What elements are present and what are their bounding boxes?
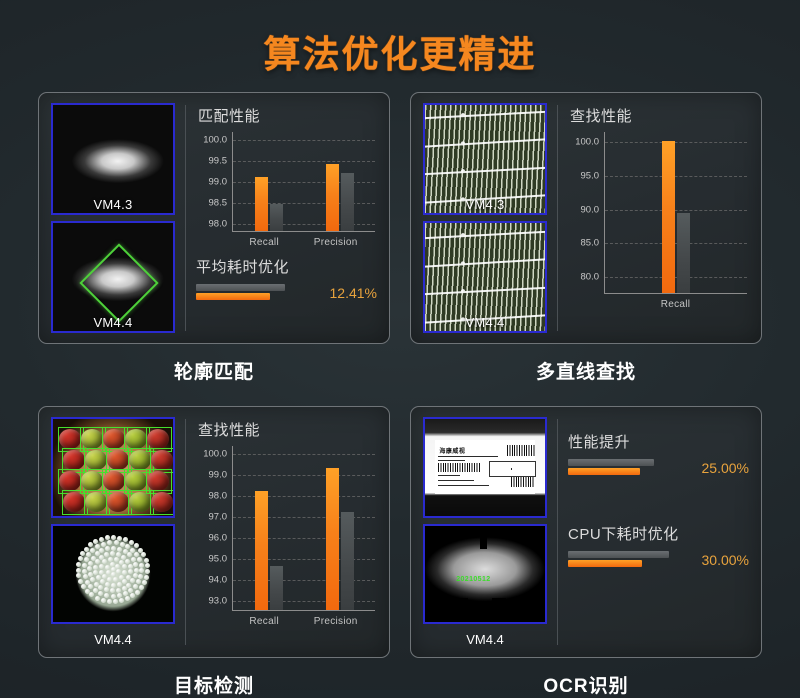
- metal-part-image: 20210512: [425, 526, 545, 623]
- metric-bar-value: [568, 560, 642, 567]
- bead: [104, 587, 109, 592]
- bead: [98, 591, 103, 596]
- bead: [78, 556, 83, 561]
- metric-title: 平均耗时优化: [196, 256, 377, 277]
- panel-caption: 目标检测: [38, 671, 390, 698]
- chart-y-tick-label: 95.0: [209, 553, 228, 564]
- chart-y-axis: 98.098.599.099.5100.0: [196, 132, 230, 250]
- bead: [111, 535, 116, 540]
- chart-title: 查找性能: [570, 105, 749, 126]
- bead: [139, 568, 144, 573]
- chart-y-tick-label: 98.0: [209, 491, 228, 502]
- chart-bar: [341, 512, 354, 610]
- chart-bar: [255, 491, 268, 610]
- thumbnail-vm43[interactable]: VM4.3: [51, 103, 175, 215]
- bead: [117, 582, 122, 587]
- bead: [76, 562, 81, 567]
- panel-caption: 多直线查找: [410, 357, 762, 384]
- bead: [119, 598, 124, 603]
- chart-plot-area: [232, 132, 375, 232]
- chart-bar-group: [255, 132, 283, 231]
- chart-y-tick-label: 90.0: [581, 204, 600, 215]
- bead: [110, 588, 115, 593]
- bead: [113, 599, 118, 604]
- bead: [130, 578, 135, 583]
- panel-ocr-recognition: 海康威视: [410, 406, 762, 698]
- apple-detection-image: [53, 419, 173, 516]
- bead: [134, 568, 139, 573]
- chart-bars: [233, 132, 375, 231]
- bead: [138, 574, 143, 579]
- chart-bar: [270, 204, 283, 231]
- chart-bar: [326, 164, 339, 231]
- bead: [114, 557, 119, 562]
- bead: [145, 569, 150, 574]
- bead: [99, 564, 104, 569]
- bead: [99, 570, 104, 575]
- metric-bar-baseline: [196, 284, 285, 291]
- chart-title: 查找性能: [198, 419, 377, 440]
- chart-y-axis: 93.094.095.096.097.098.099.0100.0: [196, 446, 230, 629]
- bead: [84, 547, 89, 552]
- bead: [120, 542, 125, 547]
- bead: [108, 557, 113, 562]
- bead: [76, 573, 81, 578]
- bar-chart-detection-performance: 93.094.095.096.097.098.099.0100.0RecallP…: [196, 446, 377, 629]
- metric-title: 性能提升: [568, 431, 749, 452]
- panel-grid: VM4.3 VM4.4 匹配性能 98.098.599.099.5100.0Re…: [0, 92, 800, 698]
- chart-bar: [341, 173, 354, 231]
- bead: [135, 590, 140, 595]
- bead: [128, 569, 133, 574]
- bead: [107, 540, 112, 545]
- bead: [84, 557, 89, 562]
- metric-bars: [568, 459, 692, 477]
- metric-bars: [196, 284, 320, 302]
- thumbnail-label: VM4.3: [425, 197, 545, 212]
- chart-x-tick-label: Recall: [661, 299, 691, 310]
- bead: [83, 574, 88, 579]
- bead: [88, 542, 93, 547]
- chart-y-tick-label: 100.0: [203, 135, 227, 146]
- chart-y-axis: 80.085.090.095.0100.0: [568, 132, 602, 312]
- chart-x-axis: RecallPrecision: [232, 234, 375, 250]
- bead: [137, 557, 142, 562]
- chart-y-tick-label: 98.0: [209, 218, 228, 229]
- bead: [133, 562, 138, 567]
- thumbnail-balls[interactable]: [51, 524, 175, 625]
- panel-row-bottom: VM4.4 查找性能 93.094.095.096.097.098.099.01…: [0, 406, 800, 698]
- chart-y-tick-label: 96.0: [209, 532, 228, 543]
- thumbnail-apples[interactable]: [51, 417, 175, 518]
- chart-bars: [605, 132, 747, 293]
- bead: [93, 565, 98, 570]
- panel-row-top: VM4.3 VM4.4 匹配性能 98.098.599.099.5100.0Re…: [0, 92, 800, 384]
- panel-body: VM4.3 VM4.4 查找性能 80.08: [410, 92, 762, 344]
- metric-bar-value: [196, 293, 270, 300]
- detection-box: [150, 490, 175, 515]
- bar-chart-finding-performance: 80.085.090.095.0100.0Recall: [568, 132, 749, 312]
- chart-y-tick-label: 98.5: [209, 197, 228, 208]
- chart-x-tick-label: Precision: [314, 237, 358, 248]
- bead: [76, 568, 81, 573]
- chart-plot-area: [232, 446, 375, 611]
- bead: [114, 540, 119, 545]
- chart-bar-group: [326, 446, 354, 610]
- shipping-label-image: 海康威视: [425, 419, 545, 516]
- bead: [87, 566, 92, 571]
- chart-y-tick-label: 100.0: [203, 449, 227, 460]
- panel-divider: [185, 105, 186, 331]
- bead: [144, 558, 149, 563]
- chart-y-tick-label: 97.0: [209, 512, 228, 523]
- thumbnail-column: VM4.3 VM4.4: [51, 103, 175, 333]
- chart-y-tick-label: 99.5: [209, 156, 228, 167]
- bead: [116, 588, 121, 593]
- thumbnail-label: VM4.4: [423, 632, 547, 647]
- bead: [94, 582, 99, 587]
- thumbnail-label: VM4.4: [425, 315, 545, 330]
- ocr-result-text: 20210512: [456, 576, 490, 583]
- bead: [141, 552, 146, 557]
- bead: [80, 551, 85, 556]
- metric-bar-baseline: [568, 459, 654, 466]
- bead: [116, 552, 121, 557]
- bead: [117, 536, 122, 541]
- metric-bar-baseline: [568, 551, 669, 558]
- panel-body: VM4.4 查找性能 93.094.095.096.097.098.099.01…: [38, 406, 390, 658]
- bead: [117, 547, 122, 552]
- bead: [139, 585, 144, 590]
- chart-title: 匹配性能: [198, 105, 377, 126]
- chart-y-tick-label: 100.0: [575, 137, 599, 148]
- chart-y-tick-label: 80.0: [581, 272, 600, 283]
- chart-bar: [255, 177, 268, 231]
- chart-bars: [233, 446, 375, 610]
- panel-body: 海康威视: [410, 406, 762, 658]
- bead: [123, 537, 128, 542]
- chart-bar-group: [326, 132, 354, 231]
- metric-bars: [568, 551, 692, 569]
- bead: [139, 563, 144, 568]
- thumbnail-vm43[interactable]: VM4.3: [423, 103, 547, 215]
- chart-bar: [270, 566, 283, 610]
- thumbnail-vm44[interactable]: VM4.4: [423, 221, 547, 333]
- chart-y-tick-label: 94.0: [209, 574, 228, 585]
- chart-plot-area: [604, 132, 747, 294]
- chart-bar: [326, 468, 339, 610]
- bead: [111, 546, 116, 551]
- metric-value: 12.41%: [330, 285, 377, 301]
- chart-y-tick-label: 99.0: [209, 470, 228, 481]
- bead: [116, 569, 121, 574]
- bar-chart-matching-performance: 98.098.599.099.5100.0RecallPrecision: [196, 132, 377, 250]
- bead: [100, 579, 105, 584]
- thumbnail-column: VM4.3 VM4.4: [423, 103, 547, 333]
- bead: [101, 542, 106, 547]
- panel-data-column: 查找性能 80.085.090.095.0100.0Recall: [568, 103, 749, 333]
- panel-contour-matching: VM4.3 VM4.4 匹配性能 98.098.599.099.5100.0Re…: [38, 92, 390, 384]
- bead: [102, 559, 107, 564]
- bead: [95, 596, 100, 601]
- chart-y-tick-label: 93.0: [209, 595, 228, 606]
- bead: [122, 586, 127, 591]
- chart-bar-group: [662, 132, 690, 293]
- panel-divider: [557, 105, 558, 331]
- bead: [96, 575, 101, 580]
- bead: [91, 556, 96, 561]
- metric-cpu-time-optimization: CPU下耗时优化 30.00%: [568, 523, 749, 569]
- bead: [105, 582, 110, 587]
- panel-caption: OCR识别: [410, 671, 762, 698]
- thumbnail-label: VM4.4: [51, 632, 175, 647]
- bead: [130, 593, 135, 598]
- chart-y-tick-label: 99.0: [209, 177, 228, 188]
- bead: [98, 585, 103, 590]
- bead: [144, 575, 149, 580]
- bead: [125, 596, 130, 601]
- panel-object-detection: VM4.4 查找性能 93.094.095.096.097.098.099.01…: [38, 406, 390, 698]
- bead: [107, 599, 112, 604]
- panel-data-column: 性能提升 25.00% CPU下耗时优化: [568, 417, 749, 647]
- bead: [111, 583, 116, 588]
- bead: [88, 572, 93, 577]
- bead: [110, 562, 115, 567]
- metric-avg-time-optimization: 平均耗时优化 12.41%: [196, 256, 377, 302]
- metric-row: 30.00%: [568, 551, 749, 569]
- thumbnail-shipping-label[interactable]: 海康威视: [423, 417, 547, 518]
- bead: [142, 580, 147, 585]
- panel-multiline-finding: VM4.3 VM4.4 查找性能 80.08: [410, 92, 762, 384]
- bead: [122, 570, 127, 575]
- bead: [122, 564, 127, 569]
- metric-bar-value: [568, 468, 640, 475]
- thumbnail-label: VM4.4: [53, 315, 173, 330]
- page-title: 算法优化更精进: [0, 24, 800, 78]
- bead: [104, 593, 109, 598]
- chart-x-axis: RecallPrecision: [232, 613, 375, 629]
- bead: [105, 546, 110, 551]
- bead: [126, 583, 131, 588]
- chart-bar: [677, 213, 690, 293]
- chart-x-tick-label: Recall: [249, 237, 279, 248]
- thumbnail-vm44[interactable]: VM4.4: [51, 221, 175, 333]
- bead: [99, 537, 104, 542]
- bead: [99, 555, 104, 560]
- chart-bar-group: [255, 446, 283, 610]
- panel-body: VM4.3 VM4.4 匹配性能 98.098.599.099.5100.0Re…: [38, 92, 390, 344]
- chart-x-tick-label: Recall: [249, 616, 279, 627]
- bead: [85, 580, 90, 585]
- bead: [82, 563, 87, 568]
- bead-detection-image: [53, 526, 173, 623]
- bead: [89, 592, 94, 597]
- chart-x-tick-label: Precision: [314, 616, 358, 627]
- thumbnail-column: 海康威视: [423, 417, 547, 647]
- bead: [125, 559, 130, 564]
- chart-x-axis: Recall: [604, 296, 747, 312]
- bead: [101, 598, 106, 603]
- panel-data-column: 匹配性能 98.098.599.099.5100.0RecallPrecisio…: [196, 103, 377, 333]
- label-brand-text: 海康威视: [439, 446, 465, 455]
- panel-divider: [557, 419, 558, 645]
- panel-data-column: 查找性能 93.094.095.096.097.098.099.0100.0Re…: [196, 417, 377, 647]
- chart-y-tick-label: 95.0: [581, 170, 600, 181]
- bead: [110, 551, 115, 556]
- metric-value: 25.00%: [702, 460, 749, 476]
- chart-bar: [662, 141, 675, 293]
- metric-performance-improvement: 性能提升 25.00%: [568, 431, 749, 477]
- bead: [145, 563, 150, 568]
- bead: [82, 569, 87, 574]
- chart-y-tick-label: 85.0: [581, 238, 600, 249]
- panel-caption: 轮廓匹配: [38, 357, 390, 384]
- thumbnail-metal-part[interactable]: 20210512: [423, 524, 547, 625]
- metric-row: 25.00%: [568, 459, 749, 477]
- thumbnail-column: VM4.4: [51, 417, 175, 647]
- bead: [128, 564, 133, 569]
- panel-divider: [185, 419, 186, 645]
- bead: [133, 584, 138, 589]
- thumbnail-label: VM4.3: [53, 197, 173, 212]
- bead: [111, 594, 116, 599]
- metric-value: 30.00%: [702, 552, 749, 568]
- metric-row: 12.41%: [196, 284, 377, 302]
- metric-title: CPU下耗时优化: [568, 523, 749, 544]
